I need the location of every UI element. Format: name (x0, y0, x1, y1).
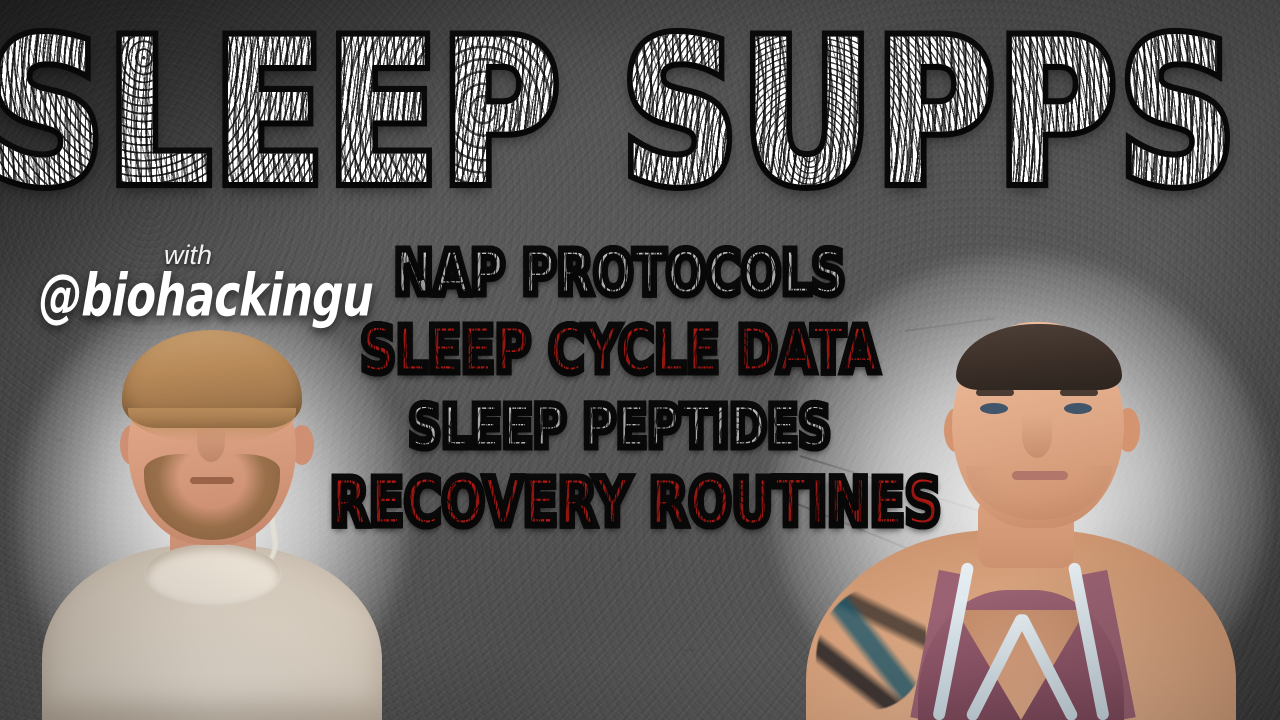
topic-item-label: NAP PROTOCOLS (394, 239, 846, 310)
subject-right-eyebrow (1060, 389, 1098, 396)
subject-right-eye (1064, 403, 1092, 414)
main-title: SLEEP SUPPS 101 (0, 14, 1280, 213)
subject-left-hair (122, 330, 302, 428)
subject-right-hair (956, 324, 1122, 390)
topic-item: SLEEP PEPTIDES SLEEP PEPTIDES (330, 398, 910, 457)
subject-right-eyebrow (976, 389, 1014, 396)
topic-item-label: RECOVERY ROUTINES (330, 465, 942, 542)
topic-item: RECOVERY ROUTINES RECOVERY ROUTINES (330, 471, 910, 537)
topic-item-label: SLEEP PEPTIDES (409, 393, 832, 461)
video-thumbnail: SLEEP SUPPS 101 SLEEP SUPPS 101 with @bi… (0, 0, 1280, 720)
subject-left-mouth (190, 477, 234, 484)
subject-left-collar (146, 544, 280, 602)
topic-item: NAP PROTOCOLS NAP PROTOCOLS (330, 243, 910, 304)
subject-right-mouth (1012, 471, 1068, 480)
topic-list: NAP PROTOCOLS NAP PROTOCOLS SLEEP CYCLE … (330, 248, 910, 532)
topic-item-label: SLEEP CYCLE DATA (361, 313, 880, 387)
host-handle: @biohackingu (38, 262, 330, 330)
subject-right-eye (980, 403, 1008, 414)
subject-right-nose (1022, 414, 1052, 458)
topic-item: SLEEP CYCLE DATA SLEEP CYCLE DATA (330, 319, 910, 383)
